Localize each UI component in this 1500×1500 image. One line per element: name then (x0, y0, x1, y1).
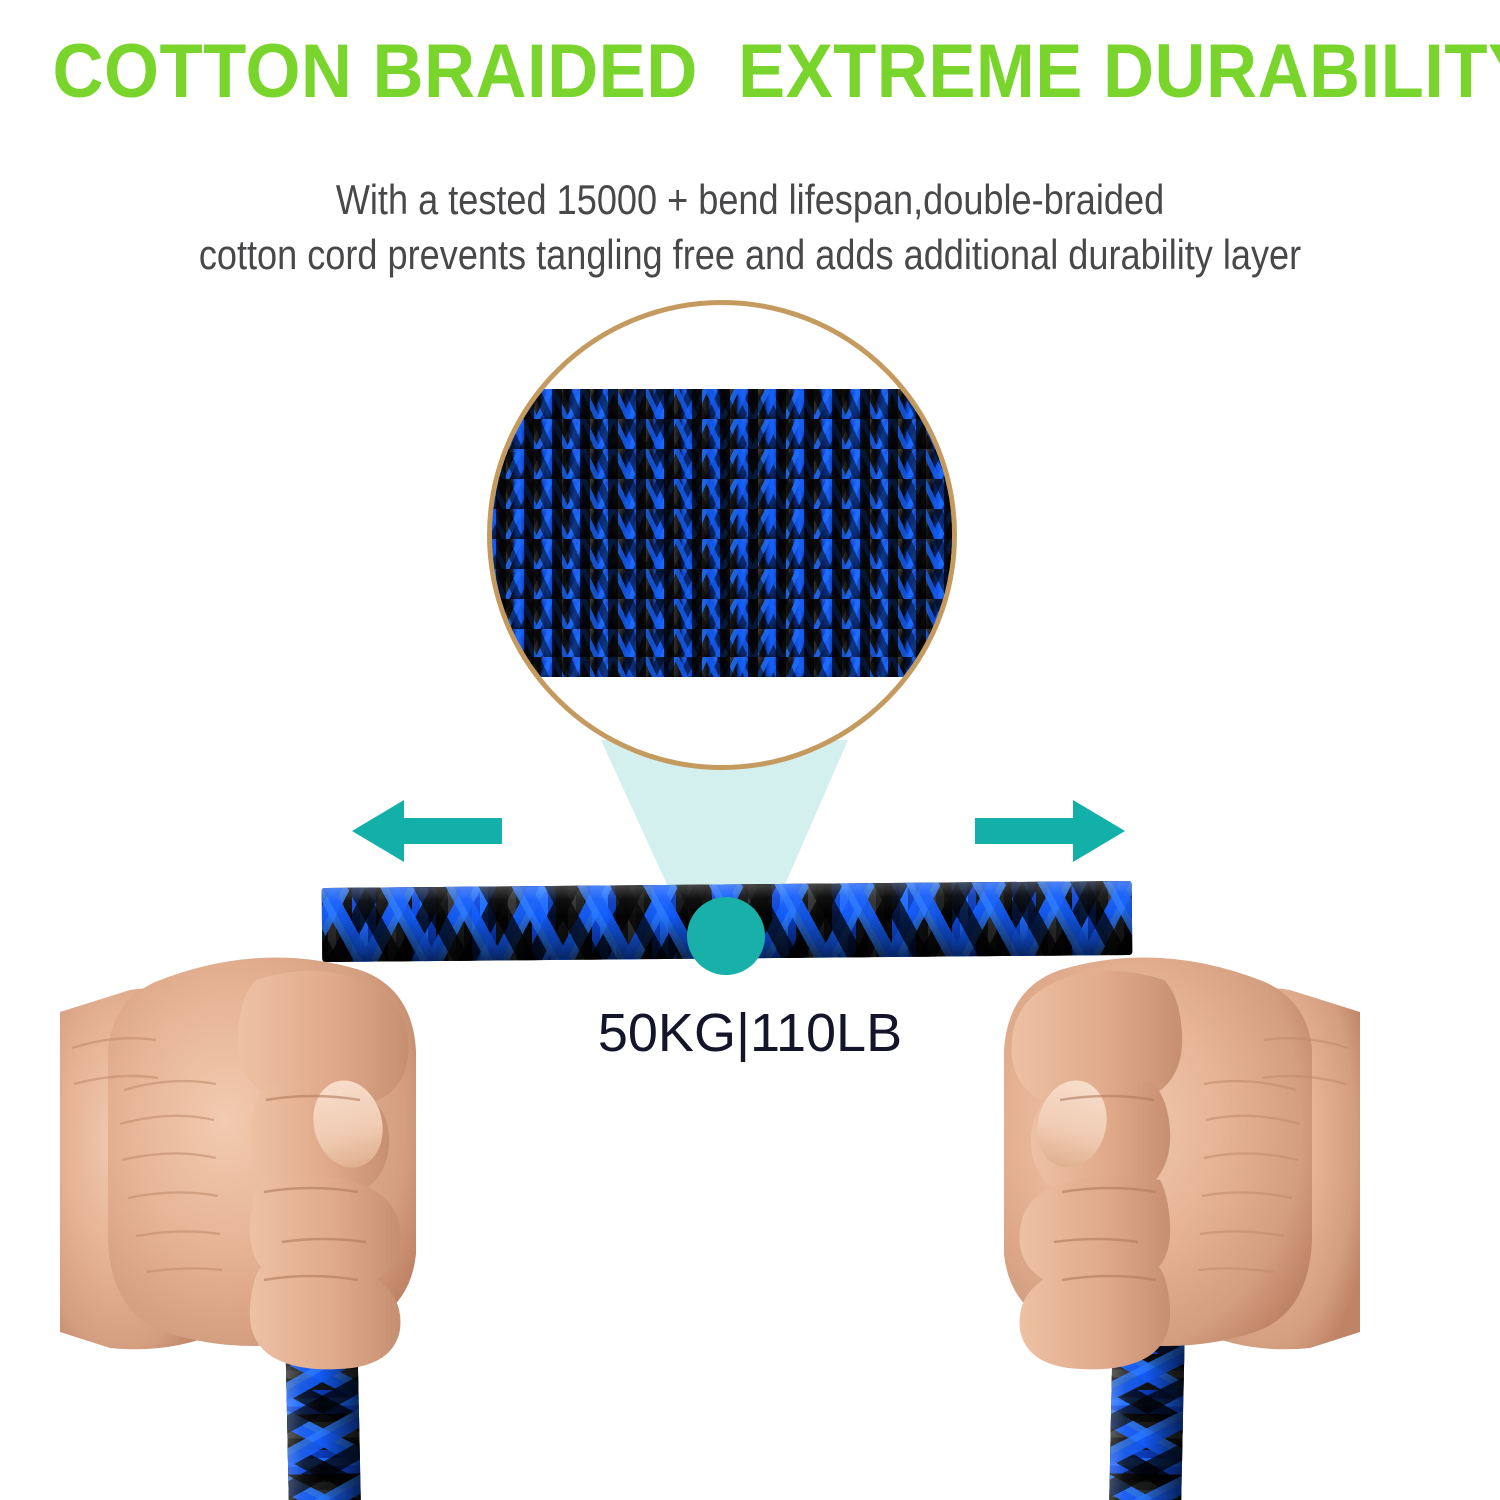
subheading-line-2: cotton cord prevents tangling free and a… (105, 227, 1395, 282)
braid-weave-fill (487, 389, 957, 677)
magnifier-lens (487, 300, 957, 770)
left-fist-gripping-cable (60, 862, 480, 1402)
focus-point-marker (687, 897, 765, 975)
magnified-braid-texture (487, 389, 957, 677)
subheading: With a tested 15000 + bend lifespan,doub… (105, 172, 1395, 282)
pull-right-arrow (975, 796, 1125, 866)
subheading-line-1: With a tested 15000 + bend lifespan,doub… (336, 176, 1164, 223)
infographic-canvas: COTTON BRAIDED EXTREME DURABILITY With a… (0, 0, 1500, 1500)
page-title: COTTON BRAIDED EXTREME DURABILITY (53, 30, 1448, 114)
right-fist-gripping-cable (940, 862, 1360, 1402)
pull-left-arrow (352, 796, 502, 866)
load-capacity-label: 50KG|110LB (0, 1002, 1500, 1064)
